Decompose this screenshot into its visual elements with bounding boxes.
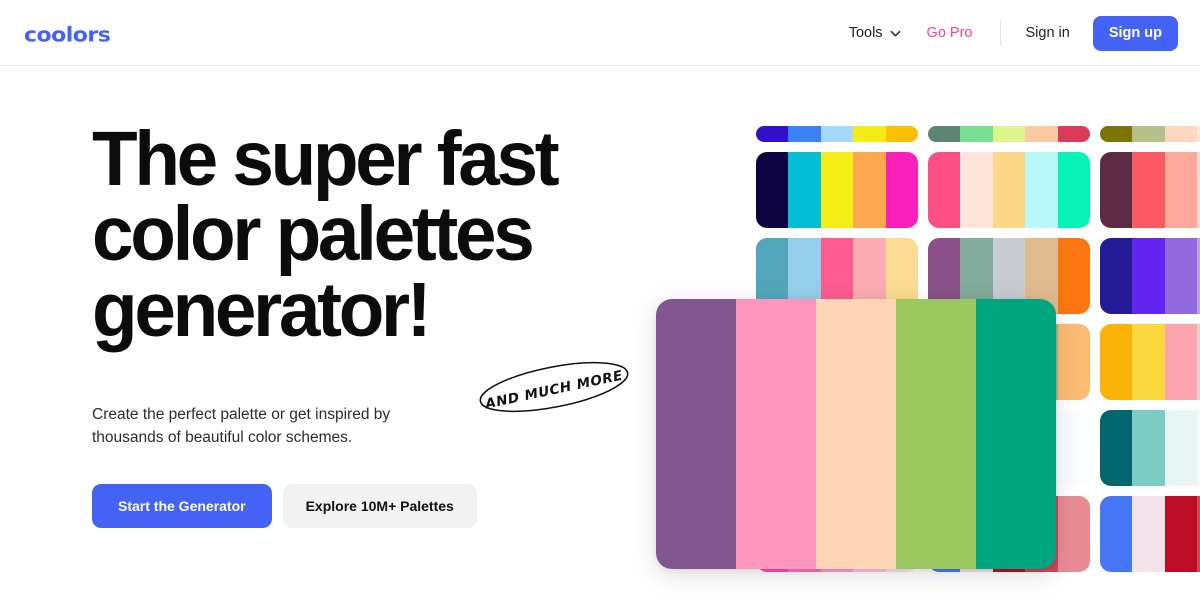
nav-item-go-pro[interactable]: Go Pro xyxy=(911,19,989,47)
palette-color xyxy=(1100,152,1132,228)
and-much-more-badge: AND MUCH MORE xyxy=(474,360,634,414)
palette-color xyxy=(1165,152,1197,228)
palette-color xyxy=(821,126,853,142)
palette-swatch-card[interactable] xyxy=(756,152,918,228)
nav-tools-label: Tools xyxy=(849,25,883,41)
palette-color xyxy=(788,152,820,228)
palette-color xyxy=(1165,238,1197,314)
palette-swatch-card[interactable] xyxy=(756,126,918,142)
featured-palette-card[interactable] xyxy=(656,299,1056,569)
palette-color xyxy=(756,152,788,228)
palette-swatch-card[interactable] xyxy=(1100,410,1200,486)
palette-color xyxy=(853,126,885,142)
palette-color xyxy=(886,126,918,142)
palette-color xyxy=(1165,410,1197,486)
featured-palette-color xyxy=(816,299,896,569)
palette-color xyxy=(1132,152,1164,228)
palette-color xyxy=(1100,126,1132,142)
palette-color xyxy=(928,126,960,142)
palette-color xyxy=(960,126,992,142)
palette-color xyxy=(1100,324,1132,400)
palette-color xyxy=(1100,238,1132,314)
palette-color xyxy=(960,152,992,228)
palette-swatch-card[interactable] xyxy=(1100,152,1200,228)
palette-color xyxy=(1025,126,1057,142)
palette-color xyxy=(1132,496,1164,572)
palette-color xyxy=(886,152,918,228)
palette-color xyxy=(1058,496,1090,572)
palette-color xyxy=(1100,410,1132,486)
palette-color xyxy=(1132,238,1164,314)
chevron-down-icon xyxy=(890,28,901,39)
nav-divider xyxy=(1000,20,1001,46)
palette-swatch-card[interactable] xyxy=(1100,126,1200,142)
palette-color xyxy=(821,152,853,228)
palette-swatch-card[interactable] xyxy=(928,126,1090,142)
featured-palette-color xyxy=(736,299,816,569)
badge-text: AND MUCH MORE xyxy=(483,368,625,413)
hero-section: The super fast color palettes generator!… xyxy=(92,122,692,528)
hero-cta-row: Start the Generator Explore 10M+ Palette… xyxy=(92,484,692,528)
main-navigation: Tools Go Pro Sign in Sign up xyxy=(839,0,1178,66)
explore-palettes-button[interactable]: Explore 10M+ Palettes xyxy=(283,484,477,528)
palette-color xyxy=(1058,410,1090,486)
start-the-generator-button[interactable]: Start the Generator xyxy=(92,484,272,528)
palette-color xyxy=(756,126,788,142)
featured-palette-color xyxy=(976,299,1056,569)
palette-color xyxy=(1058,126,1090,142)
palette-color xyxy=(993,126,1025,142)
palette-color xyxy=(1165,126,1197,142)
palette-color xyxy=(788,126,820,142)
logo[interactable]: coolors xyxy=(24,24,110,47)
palette-color xyxy=(1058,324,1090,400)
palette-color xyxy=(1025,152,1057,228)
palette-color xyxy=(1100,496,1132,572)
palette-color xyxy=(1132,126,1164,142)
palette-color xyxy=(1058,238,1090,314)
palette-color xyxy=(853,152,885,228)
featured-palette-color xyxy=(656,299,736,569)
hero-subtitle: Create the perfect palette or get inspir… xyxy=(92,404,442,450)
palette-color xyxy=(993,152,1025,228)
palette-color xyxy=(1058,152,1090,228)
page-title: The super fast color palettes generator! xyxy=(92,122,674,348)
palette-swatch-card[interactable] xyxy=(1100,238,1200,314)
sign-up-button[interactable]: Sign up xyxy=(1093,16,1178,51)
nav-item-tools[interactable]: Tools xyxy=(839,19,911,47)
site-header: coolors Tools Go Pro Sign in Sign up xyxy=(0,0,1200,66)
palette-swatch-card[interactable] xyxy=(1100,496,1200,572)
palette-color xyxy=(1132,324,1164,400)
palette-color xyxy=(928,152,960,228)
palette-color xyxy=(1165,496,1197,572)
featured-palette-color xyxy=(896,299,976,569)
palette-color xyxy=(1165,324,1197,400)
palette-color xyxy=(1132,410,1164,486)
palette-swatch-card[interactable] xyxy=(1100,324,1200,400)
palette-swatch-card[interactable] xyxy=(928,152,1090,228)
nav-item-sign-in[interactable]: Sign in xyxy=(1013,19,1081,47)
